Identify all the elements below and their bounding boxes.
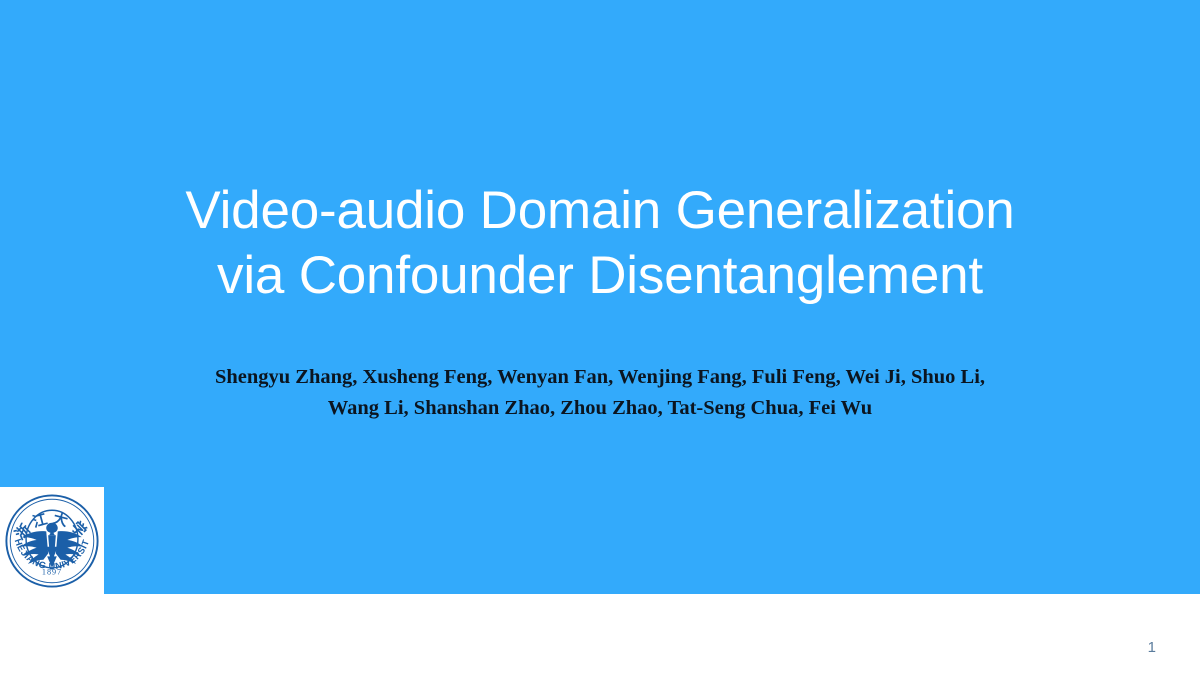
author-line-1: Shengyu Zhang, Xusheng Feng, Wenyan Fan,… — [0, 362, 1200, 393]
author-line-2: Wang Li, Shanshan Zhao, Zhou Zhao, Tat-S… — [0, 393, 1200, 424]
slide-root: Video-audio Domain Generalization via Co… — [0, 0, 1200, 675]
zhejiang-university-logo-icon: 浙江大学 ZHEJIANG UNIVERSITY 1897 — [4, 493, 100, 589]
title-line-1: Video-audio Domain Generalization — [0, 178, 1200, 243]
page-title: Video-audio Domain Generalization via Co… — [0, 178, 1200, 308]
page-number: 1 — [1148, 640, 1156, 655]
slide-footer: 1 — [0, 594, 1200, 675]
slide-canvas: Video-audio Domain Generalization via Co… — [0, 0, 1200, 594]
svg-text:1897: 1897 — [42, 567, 62, 576]
logo-card: 浙江大学 ZHEJIANG UNIVERSITY 1897 — [0, 487, 104, 594]
author-list: Shengyu Zhang, Xusheng Feng, Wenyan Fan,… — [0, 362, 1200, 424]
title-line-2: via Confounder Disentanglement — [0, 243, 1200, 308]
